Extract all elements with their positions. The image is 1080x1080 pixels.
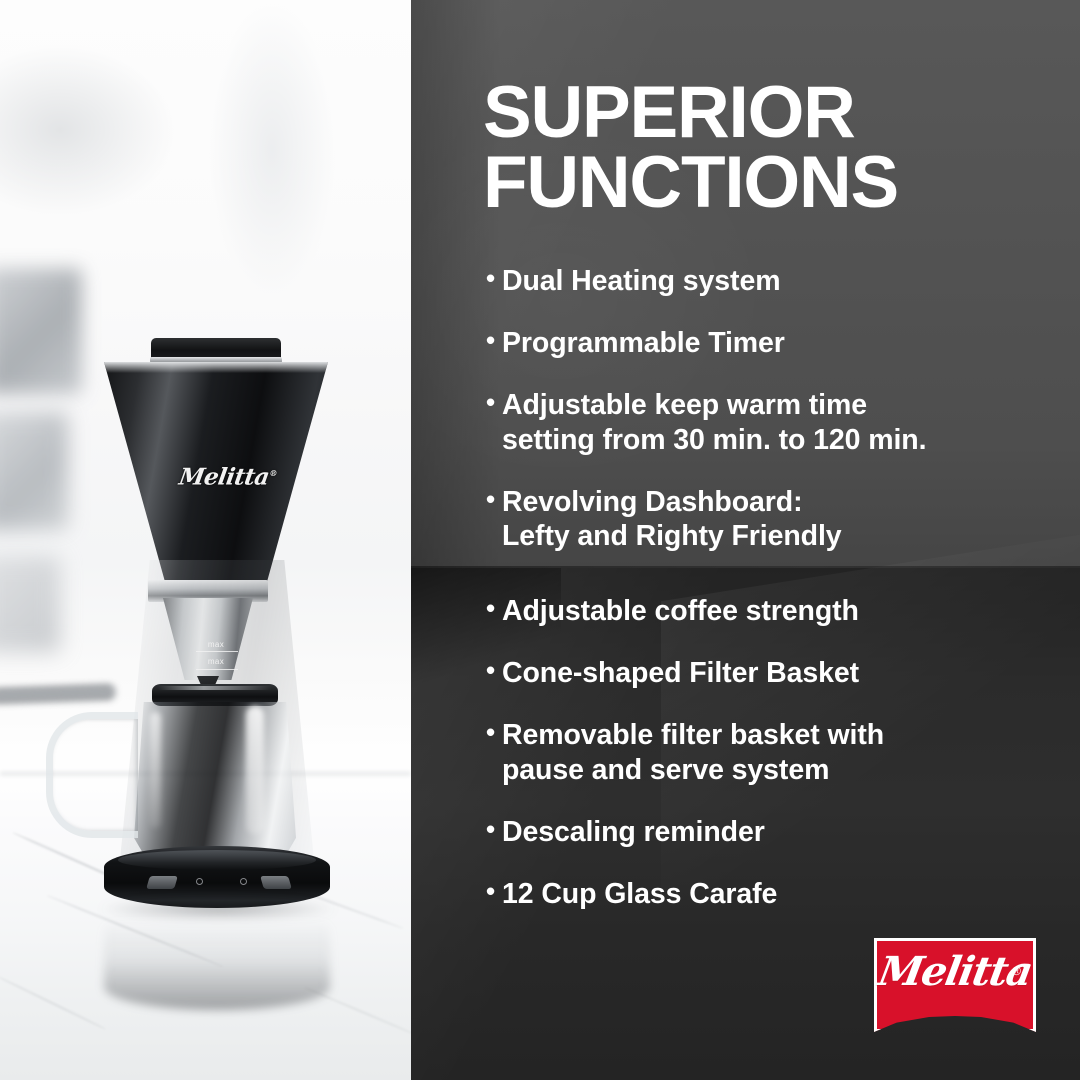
list-item: 12 Cup Glass Carafe [486, 877, 1056, 911]
list-item: Cone-shaped Filter Basket [486, 656, 1056, 690]
product-brand-mark: Melitta® [177, 455, 265, 491]
product-feature-poster: Melitta® max max [0, 0, 1080, 1080]
carafe-handle [46, 712, 138, 838]
product-brand-mark-text: Melitta [177, 464, 271, 491]
carafe-lid-highlight [158, 686, 272, 690]
carafe-max-line-lower [196, 669, 238, 670]
melitta-logo: Melitta ® [874, 938, 1036, 1032]
carafe-max-label-upper: max [198, 640, 234, 649]
feature-list-primary: Dual Heating system Programmable Timer A… [486, 264, 1046, 553]
list-item: Programmable Timer [486, 326, 1046, 360]
carafe-max-label-lower: max [198, 657, 234, 666]
logo-registered-icon: ® [1012, 964, 1021, 978]
product-brand-mark-registered: ® [269, 468, 278, 478]
product-photo-panel: Melitta® max max [0, 0, 411, 1080]
list-item: Dual Heating system [486, 264, 1046, 298]
page-title-line-1: SUPERIOR [483, 78, 1063, 148]
carafe-highlight-right [246, 706, 264, 834]
base-top-ring [118, 850, 316, 870]
list-item: Revolving Dashboard: Lefty and Righty Fr… [486, 485, 1046, 553]
list-item: Adjustable keep warm time setting from 3… [486, 388, 1046, 456]
feature-content-panel: SUPERIOR FUNCTIONS Dual Heating system P… [411, 0, 1080, 1080]
funnel-rim-highlight [104, 362, 328, 373]
page-title: SUPERIOR FUNCTIONS [483, 78, 1063, 218]
page-title-line-2: FUNCTIONS [483, 148, 1063, 218]
feature-list-secondary: Adjustable coffee strength Cone-shaped F… [486, 594, 1056, 911]
coffee-maker: Melitta® max max [0, 0, 411, 1080]
dashboard-indicator-left [196, 878, 203, 885]
content-inner: SUPERIOR FUNCTIONS Dual Heating system P… [411, 0, 1080, 1080]
dashboard-button-left [146, 876, 178, 889]
list-item: Removable filter basket with pause and s… [486, 718, 1056, 786]
carafe-max-line-upper [196, 651, 238, 652]
dashboard-indicator-right [240, 878, 247, 885]
carafe-highlight-left [150, 712, 161, 828]
countertop-reflection [104, 906, 330, 1010]
list-item: Adjustable coffee strength [486, 594, 1056, 628]
list-item: Descaling reminder [486, 815, 1056, 849]
dashboard-button-right [260, 876, 292, 889]
